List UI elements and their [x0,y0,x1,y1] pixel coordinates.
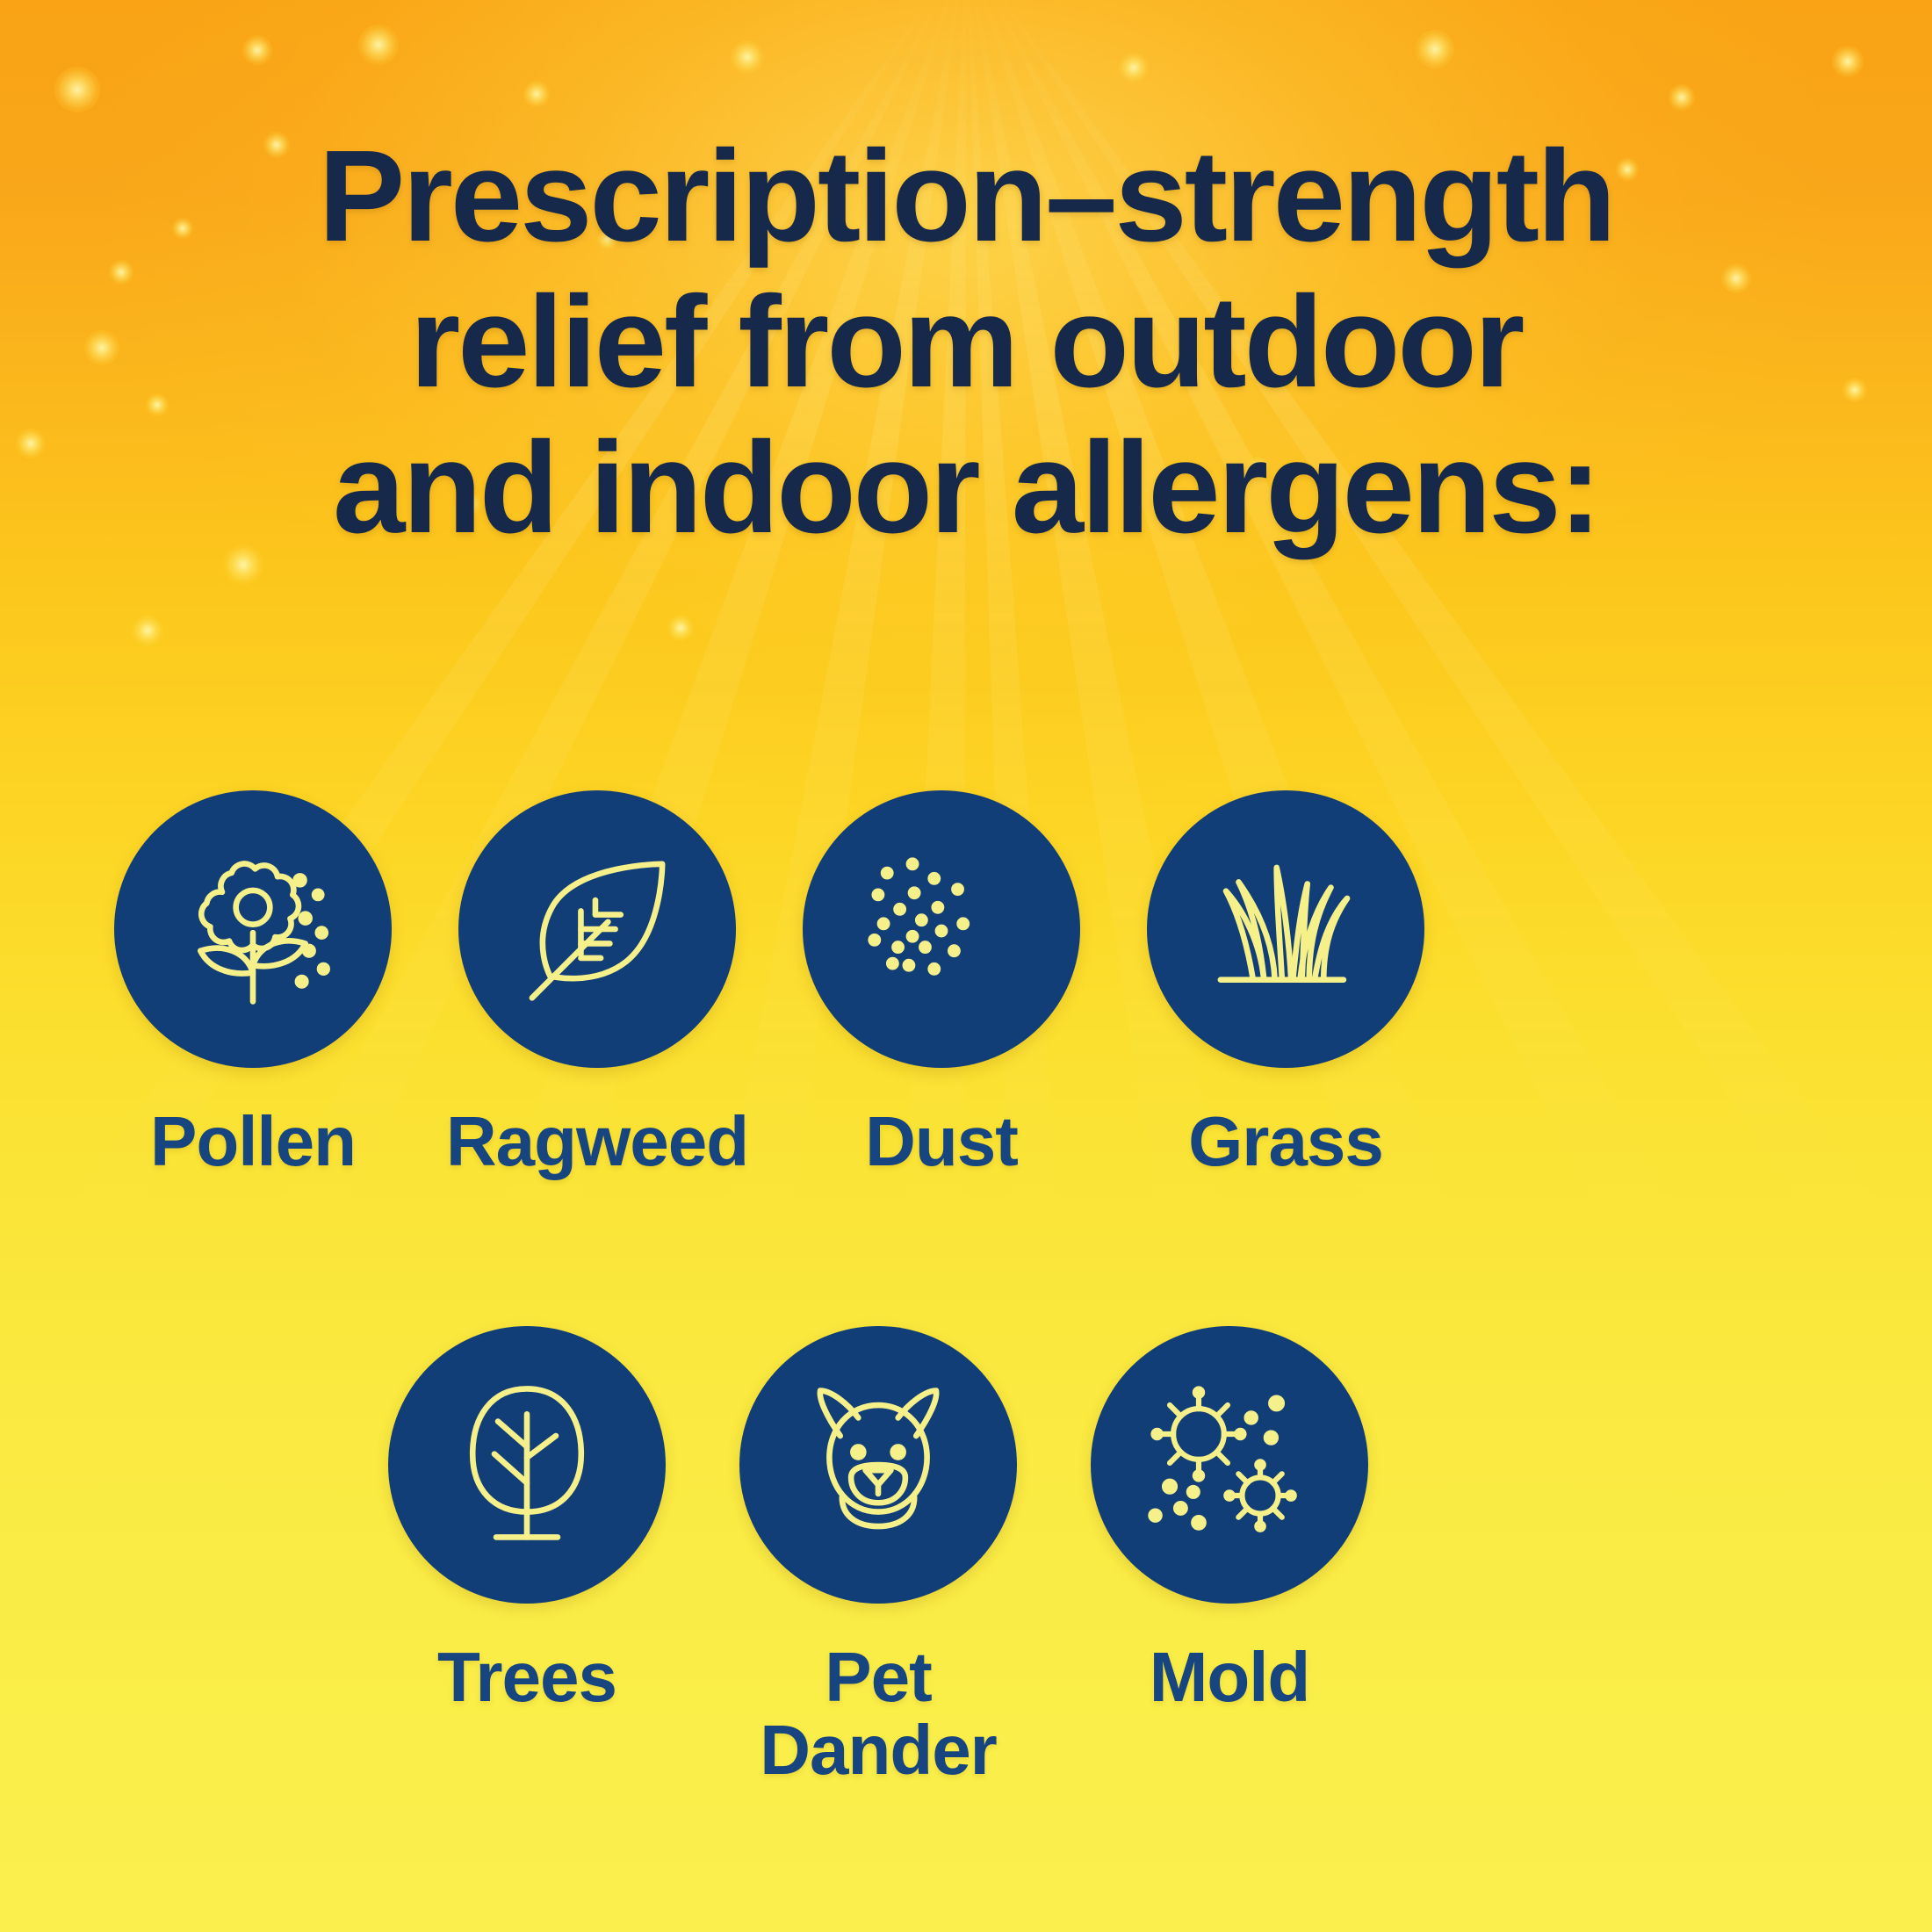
headline-line-1: Prescription–strength [0,132,1932,262]
allergen-item-trees[interactable]: Trees [351,1326,703,1786]
allergen-item-mold[interactable]: Mold [1054,1326,1405,1786]
ragweed-disc [458,790,736,1068]
trees-disc [388,1326,666,1604]
pet-dander-disc [739,1326,1017,1604]
headline-line-2: relief from outdoor [0,278,1932,407]
allergen-relief-poster: Prescription–strength relief from outdoo… [0,0,1932,1932]
allergen-label: Trees [437,1640,616,1713]
mold-disc [1091,1326,1368,1604]
allergen-label: Dust [865,1105,1018,1178]
allergen-item-dust[interactable]: Dust [769,790,1114,1178]
allergen-row-1: Pollen Ragweed [0,790,1932,1178]
page-title: Prescription–strength relief from outdoo… [0,132,1932,553]
allergen-label: Mold [1150,1640,1310,1713]
allergen-item-grass[interactable]: Grass [1114,790,1458,1178]
allergen-label: Grass [1188,1105,1383,1178]
headline-line-3: and indoor allergens: [0,423,1932,553]
mold-spores-icon [1139,1374,1320,1555]
allergen-row-2: Trees [0,1326,1932,1786]
allergen-label: Ragweed [446,1105,748,1178]
animal-head-icon [788,1374,969,1555]
grass-disc [1147,790,1424,1068]
leaf-icon [507,839,688,1020]
allergen-label: Pollen [150,1105,356,1178]
flower-pollen-icon [162,839,343,1020]
allergen-item-ragweed[interactable]: Ragweed [425,790,769,1178]
dust-disc [803,790,1080,1068]
allergen-item-pollen[interactable]: Pollen [81,790,425,1178]
dust-particles-icon [851,839,1032,1020]
allergen-item-pet-dander[interactable]: Pet Dander [703,1326,1054,1786]
grass-blades-icon [1195,839,1376,1020]
tree-icon [436,1374,617,1555]
pollen-disc [114,790,392,1068]
allergen-label: Pet Dander [760,1640,997,1786]
